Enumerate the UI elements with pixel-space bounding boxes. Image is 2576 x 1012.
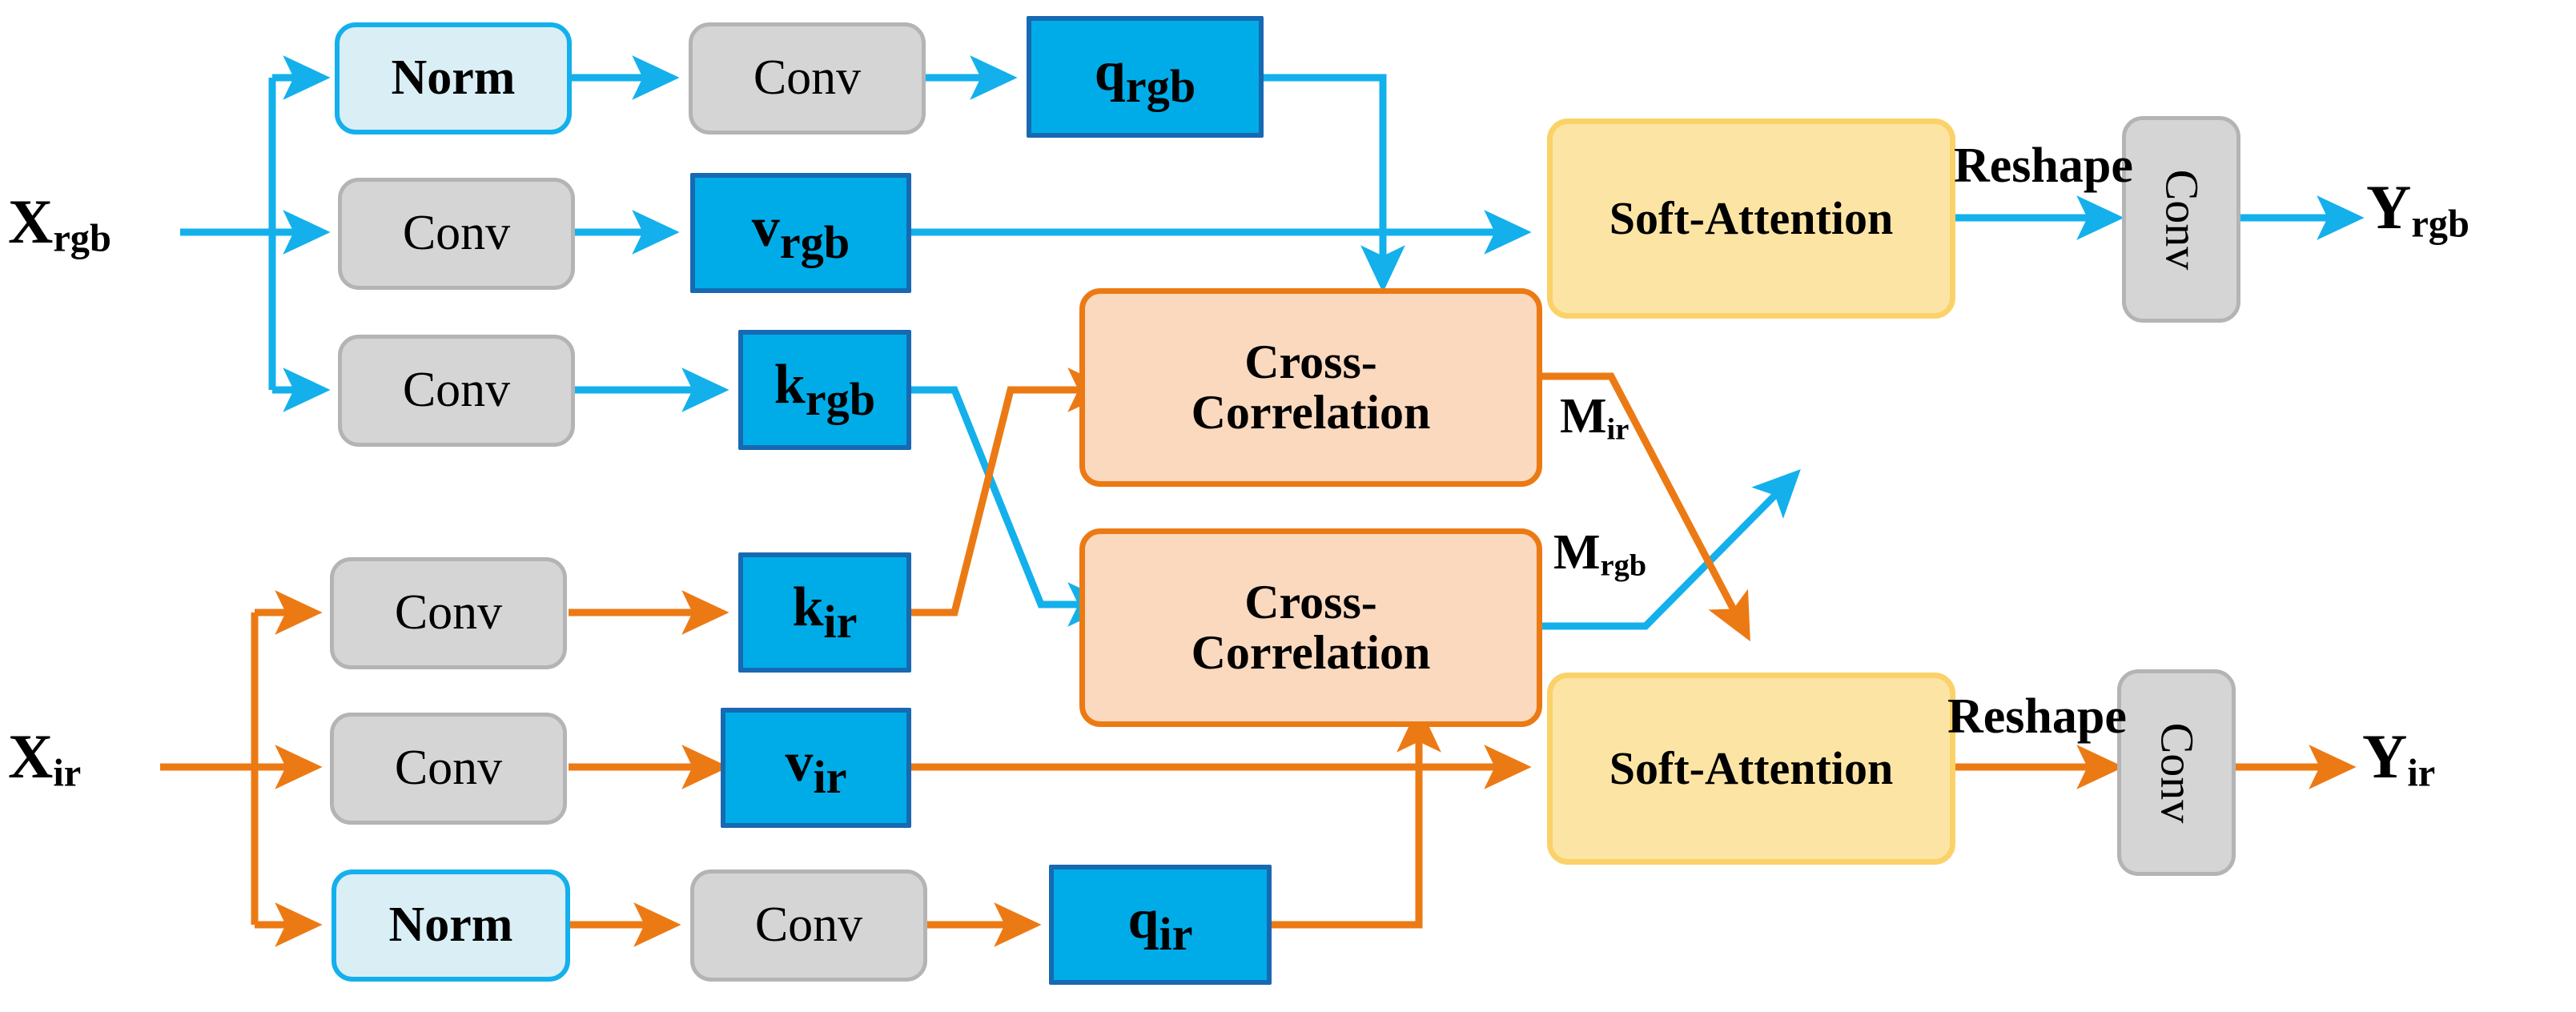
edge-label-reshape-top: Reshape [1954, 138, 2133, 195]
block-conv-ir-v[interactable]: Conv [330, 713, 567, 825]
block-label: Conv [754, 52, 861, 104]
tensor-label: qir [1127, 890, 1192, 958]
tensor-label: vrgb [752, 199, 850, 267]
block-label: Conv [395, 587, 502, 639]
input-label-x-rgb: Xrgb [8, 186, 111, 261]
block-conv-ir-q[interactable]: Conv [690, 869, 927, 982]
tensor-v-rgb[interactable]: vrgb [690, 173, 911, 293]
block-label: Conv [2157, 169, 2206, 270]
tensor-label: kir [792, 578, 857, 646]
tensor-k-ir[interactable]: kir [738, 552, 911, 673]
block-soft-attention-bottom[interactable]: Soft-Attention [1547, 673, 1955, 865]
block-label: Norm [389, 899, 513, 951]
diagram-canvas: Xrgb Xir Yrgb Yir Norm Conv qrgb Conv vr… [0, 0, 2576, 1012]
edge-label-m-ir: Mir [1560, 388, 1629, 447]
output-label-y-ir: Yir [2362, 721, 2435, 796]
block-cross-correlation-top[interactable]: Cross- Correlation [1079, 288, 1542, 487]
edge-label-m-rgb: Mrgb [1553, 524, 1646, 583]
block-conv-rgb-k[interactable]: Conv [338, 335, 575, 447]
block-norm-ir[interactable]: Norm [332, 869, 570, 982]
block-conv-ir-k[interactable]: Conv [330, 557, 567, 669]
block-label: Conv [2152, 722, 2201, 823]
block-cross-correlation-bottom[interactable]: Cross- Correlation [1079, 528, 1542, 727]
block-conv-rgb-v[interactable]: Conv [338, 178, 575, 290]
block-label: Norm [392, 52, 516, 104]
tensor-k-rgb[interactable]: krgb [738, 330, 911, 450]
block-label: Conv [395, 742, 502, 794]
tensor-q-rgb[interactable]: qrgb [1027, 16, 1264, 138]
block-label: Soft-Attention [1609, 195, 1893, 243]
block-conv-out-ir[interactable]: Conv [2117, 669, 2236, 876]
block-label: Conv [755, 899, 862, 951]
input-label-x-ir: Xir [8, 721, 81, 796]
tensor-label: vir [785, 733, 846, 801]
tensor-q-ir[interactable]: qir [1049, 865, 1272, 985]
block-label-line1: Cross- [1244, 337, 1377, 388]
block-label: Soft-Attention [1609, 745, 1893, 793]
block-label-line1: Cross- [1244, 577, 1377, 628]
tensor-label: qrgb [1095, 42, 1196, 110]
block-label: Conv [403, 207, 510, 259]
block-label-line2: Correlation [1192, 388, 1431, 438]
block-label-line2: Correlation [1192, 628, 1431, 678]
edge-label-reshape-bottom: Reshape [1947, 689, 2127, 745]
block-norm-rgb[interactable]: Norm [335, 22, 572, 135]
tensor-v-ir[interactable]: vir [721, 708, 911, 828]
output-label-y-rgb: Yrgb [2366, 171, 2470, 247]
block-conv-out-rgb[interactable]: Conv [2122, 116, 2240, 323]
tensor-label: krgb [774, 355, 875, 424]
block-label: Conv [403, 364, 510, 416]
block-conv-rgb-q[interactable]: Conv [689, 22, 926, 135]
block-soft-attention-top[interactable]: Soft-Attention [1547, 118, 1955, 319]
